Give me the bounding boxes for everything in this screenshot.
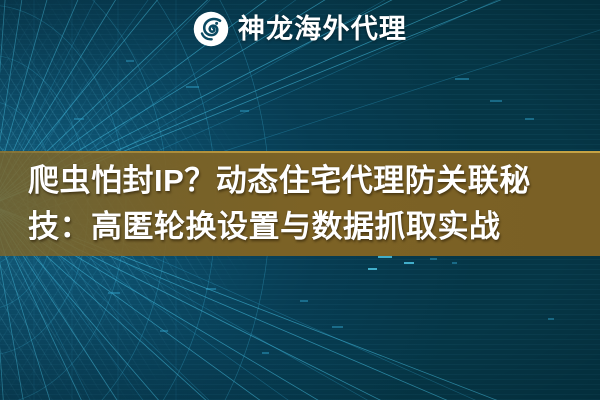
dragon-swirl-circle-icon bbox=[193, 11, 229, 47]
page-title-line-1: 爬虫怕封IP？动态住宅代理防关联秘 bbox=[0, 158, 600, 204]
page-title: 爬虫怕封IP？动态住宅代理防关联秘 技：高匿轮换设置与数据抓取实战 bbox=[0, 151, 600, 256]
poster-canvas: 神龙海外代理 爬虫怕封IP？动态住宅代理防关联秘 技：高匿轮换设置与数据抓取实战 bbox=[0, 0, 600, 400]
brand-lockup: 神龙海外代理 bbox=[0, 11, 600, 47]
brand-name: 神龙海外代理 bbox=[238, 11, 407, 47]
page-title-line-2: 技：高匿轮换设置与数据抓取实战 bbox=[0, 204, 600, 250]
